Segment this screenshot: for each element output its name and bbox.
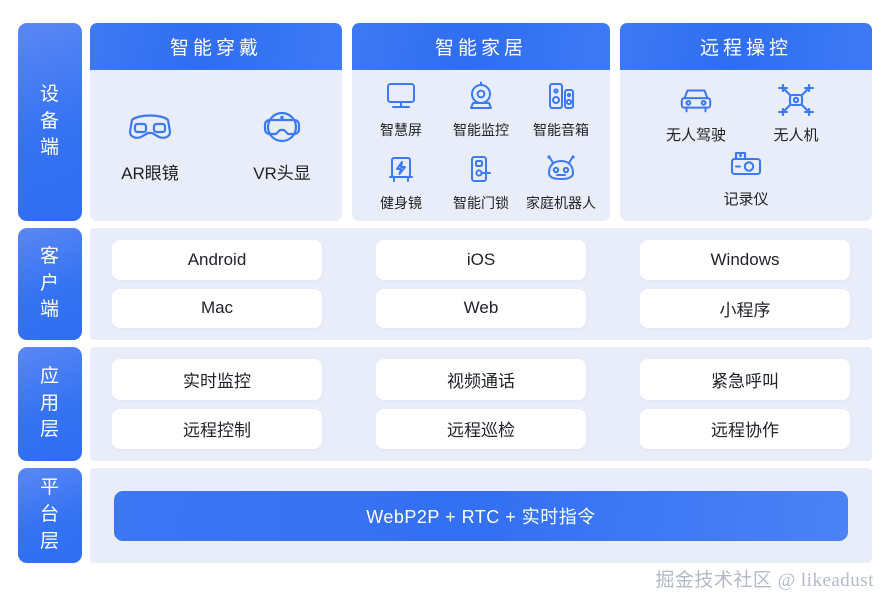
platform-band: WebP2P + RTC + 实时指令 bbox=[90, 468, 872, 563]
sidebar-item-label: 平台层 bbox=[39, 475, 61, 556]
door-lock-icon bbox=[462, 150, 500, 188]
device-item-label: AR眼镜 bbox=[121, 159, 179, 184]
application-band: 实时监控 视频通话 紧急呼叫 远程控制 远程巡检 远程协作 bbox=[90, 347, 872, 461]
client-pill-miniprogram[interactable]: 小程序 bbox=[640, 289, 850, 329]
app-pill-realtime-monitoring[interactable]: 实时监控 bbox=[112, 359, 322, 400]
device-item-label: 智能门锁 bbox=[453, 193, 509, 213]
device-item-fitness-mirror[interactable]: 健身镜 bbox=[362, 150, 440, 213]
device-card-smart-home[interactable]: 智能家居 智慧屏 bbox=[352, 23, 610, 221]
device-item-autonomous-car[interactable]: 无人驾驶 bbox=[653, 81, 739, 145]
dashcam-icon bbox=[727, 145, 765, 183]
sidebar-item-label: 设备端 bbox=[39, 82, 61, 163]
client-pill-android[interactable]: Android bbox=[112, 240, 322, 280]
ar-glasses-icon bbox=[125, 105, 175, 149]
layer-row-device: 设备端 智能穿戴 AR眼镜 bbox=[18, 23, 872, 221]
device-item-label: 健身镜 bbox=[380, 193, 422, 213]
platform-banner[interactable]: WebP2P + RTC + 实时指令 bbox=[114, 491, 848, 541]
client-band: Android iOS Windows Mac Web 小程序 bbox=[90, 228, 872, 340]
device-card-body: 智慧屏 智能监控 bbox=[352, 70, 610, 221]
app-pill-remote-inspection[interactable]: 远程巡检 bbox=[376, 409, 586, 450]
client-pill-windows[interactable]: Windows bbox=[640, 240, 850, 280]
car-icon bbox=[677, 81, 715, 119]
device-item-label: 家庭机器人 bbox=[526, 193, 596, 213]
fitness-mirror-icon bbox=[382, 150, 420, 188]
client-pill-web[interactable]: Web bbox=[376, 289, 586, 329]
device-card-body: 无人驾驶 bbox=[620, 70, 872, 221]
sidebar-item-label: 客户端 bbox=[39, 244, 61, 325]
sidebar-item-platform[interactable]: 平台层 bbox=[18, 468, 82, 563]
vr-headset-icon bbox=[257, 105, 307, 149]
layer-row-client: 客户端 Android iOS Windows Mac Web 小程序 bbox=[18, 228, 872, 340]
device-item-smart-speaker[interactable]: 智能音箱 bbox=[522, 77, 600, 140]
app-pill-remote-collaboration[interactable]: 远程协作 bbox=[640, 409, 850, 450]
app-pill-remote-control[interactable]: 远程控制 bbox=[112, 409, 322, 450]
client-pill-ios[interactable]: iOS bbox=[376, 240, 586, 280]
architecture-diagram: 设备端 智能穿戴 AR眼镜 bbox=[18, 23, 872, 566]
device-card-title: 智能家居 bbox=[352, 23, 610, 70]
device-card-wearable[interactable]: 智能穿戴 AR眼镜 bbox=[90, 23, 342, 221]
device-item-label: 记录仪 bbox=[723, 188, 768, 209]
robot-icon bbox=[542, 150, 580, 188]
device-cards-band: 智能穿戴 AR眼镜 bbox=[90, 23, 872, 221]
device-item-label: VR头显 bbox=[253, 159, 311, 184]
device-card-remote-control[interactable]: 远程操控 无人驾驶 bbox=[620, 23, 872, 221]
sidebar-item-client[interactable]: 客户端 bbox=[18, 228, 82, 340]
device-item-vr-headset[interactable]: VR头显 bbox=[239, 105, 325, 184]
application-pill-grid: 实时监控 视频通话 紧急呼叫 远程控制 远程巡检 远程协作 bbox=[90, 347, 872, 461]
device-item-ar-glasses[interactable]: AR眼镜 bbox=[107, 105, 193, 184]
client-pill-mac[interactable]: Mac bbox=[112, 289, 322, 329]
layer-row-platform: 平台层 WebP2P + RTC + 实时指令 bbox=[18, 468, 872, 563]
app-pill-video-call[interactable]: 视频通话 bbox=[376, 359, 586, 400]
sidebar-item-device[interactable]: 设备端 bbox=[18, 23, 82, 221]
device-item-dashcam[interactable]: 记录仪 bbox=[703, 145, 789, 209]
device-item-label: 智能音箱 bbox=[533, 120, 589, 140]
drone-icon bbox=[777, 81, 815, 119]
device-item-label: 无人机 bbox=[773, 124, 818, 145]
speaker-icon bbox=[542, 77, 580, 115]
device-card-title: 远程操控 bbox=[620, 23, 872, 70]
device-item-security-camera[interactable]: 智能监控 bbox=[442, 77, 520, 140]
sidebar-item-application[interactable]: 应用层 bbox=[18, 347, 82, 461]
client-pill-grid: Android iOS Windows Mac Web 小程序 bbox=[90, 228, 872, 340]
app-pill-emergency-call[interactable]: 紧急呼叫 bbox=[640, 359, 850, 400]
device-item-label: 智慧屏 bbox=[380, 120, 422, 140]
device-item-smart-lock[interactable]: 智能门锁 bbox=[442, 150, 520, 213]
security-camera-icon bbox=[462, 77, 500, 115]
layer-row-application: 应用层 实时监控 视频通话 紧急呼叫 远程控制 远程巡检 远程协作 bbox=[18, 347, 872, 461]
device-item-label: 智能监控 bbox=[453, 120, 509, 140]
device-card-title: 智能穿戴 bbox=[90, 23, 342, 70]
monitor-icon bbox=[382, 77, 420, 115]
device-item-home-robot[interactable]: 家庭机器人 bbox=[522, 150, 600, 213]
watermark: 掘金技术社区 @ likeadust bbox=[655, 565, 874, 592]
device-item-smart-screen[interactable]: 智慧屏 bbox=[362, 77, 440, 140]
sidebar-item-label: 应用层 bbox=[39, 364, 61, 445]
device-item-label: 无人驾驶 bbox=[666, 124, 726, 145]
device-item-drone[interactable]: 无人机 bbox=[753, 81, 839, 145]
device-card-body: AR眼镜 VR头显 bbox=[90, 70, 342, 221]
